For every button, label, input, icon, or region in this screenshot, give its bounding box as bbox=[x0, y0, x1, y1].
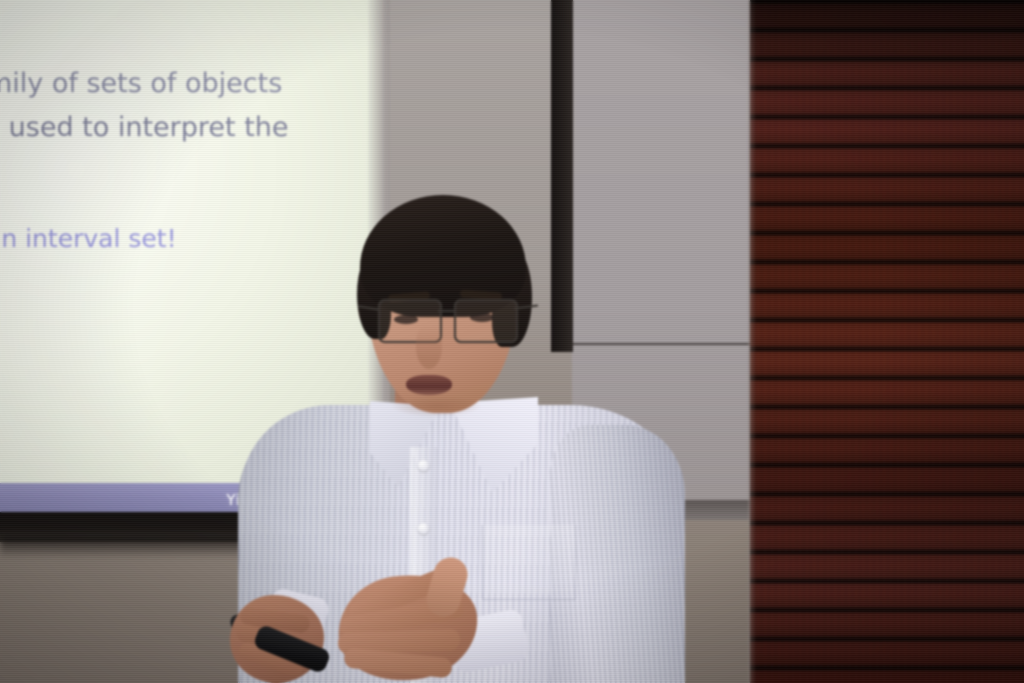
slide-text-line-3: an interval set! bbox=[0, 224, 177, 253]
photo-scene: mily of sets of objects s used to interp… bbox=[0, 0, 1024, 683]
slide-text-line-1: mily of sets of objects bbox=[0, 68, 282, 99]
left-eye bbox=[394, 315, 418, 324]
shirt-button bbox=[418, 523, 429, 534]
glasses-bridge bbox=[438, 310, 456, 312]
slide-text-line-2: s used to interpret the bbox=[0, 112, 289, 143]
chest-pocket bbox=[482, 525, 576, 600]
chin-shadow bbox=[390, 395, 482, 417]
nose bbox=[416, 325, 442, 369]
right-eye bbox=[470, 313, 494, 322]
wood-grain-texture bbox=[750, 0, 1024, 683]
eyeglasses bbox=[370, 299, 526, 343]
shirt-button bbox=[418, 460, 429, 471]
speaker-figure bbox=[220, 195, 690, 683]
wood-wall-edge bbox=[748, 0, 756, 683]
wood-wall-top-shadow bbox=[750, 0, 1024, 70]
mouth bbox=[406, 375, 452, 395]
